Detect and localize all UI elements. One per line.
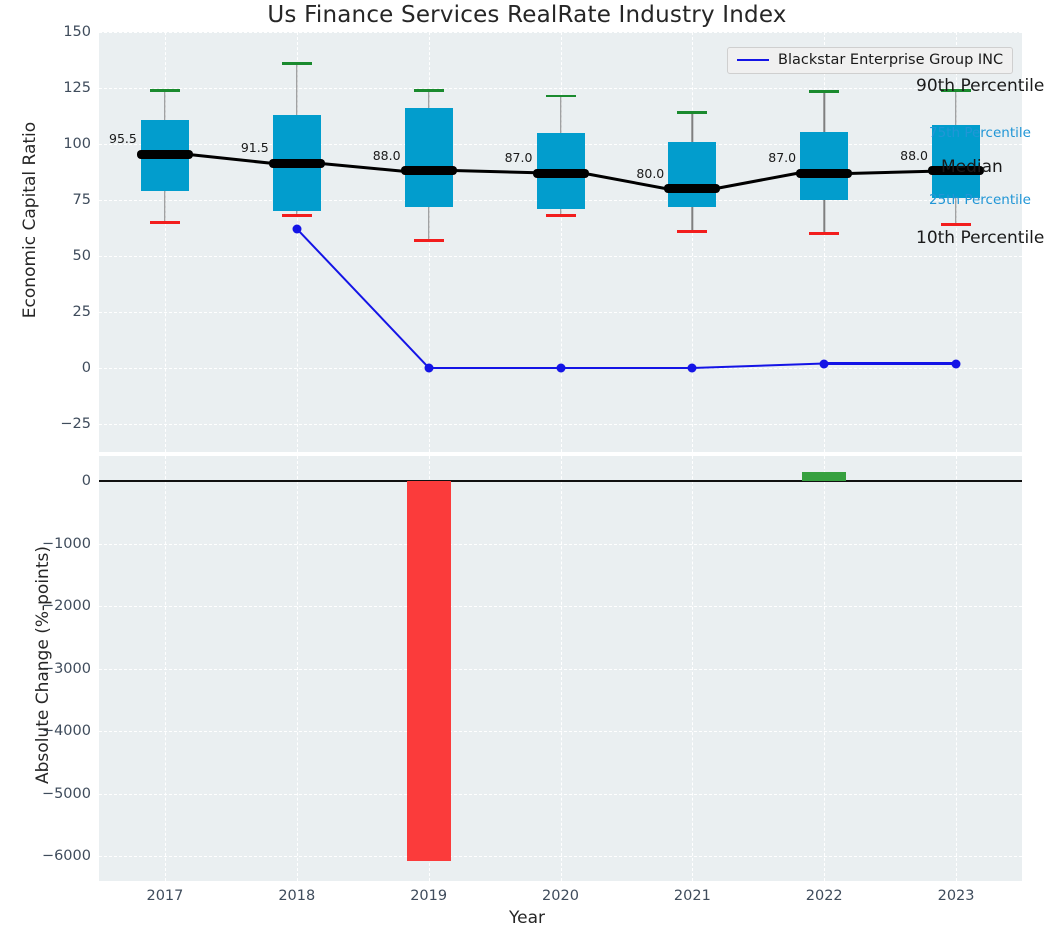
y-tick-label: 125 (63, 80, 91, 96)
gridline-vertical (956, 456, 957, 881)
series-data-point (424, 364, 433, 373)
y-tick-label: 0 (82, 473, 91, 489)
whisker-cap-high (150, 89, 180, 92)
gridline-vertical (165, 456, 166, 881)
whisker-cap-high (677, 111, 707, 114)
median-marker (664, 184, 720, 193)
y-axis-bottom-label: Absolute Change (%-points) (33, 535, 53, 795)
legend[interactable]: Blackstar Enterprise Group INC (727, 47, 1013, 74)
annotation-median: Median (941, 157, 1003, 177)
median-marker (401, 166, 457, 175)
box-iqr (800, 132, 848, 200)
x-tick-label: 2018 (278, 888, 315, 904)
change-bar-positive (802, 472, 846, 481)
x-tick-label: 2022 (806, 888, 843, 904)
median-value-label: 91.5 (241, 140, 269, 155)
series-data-point (820, 359, 829, 368)
y-tick-label: 0 (82, 360, 91, 376)
change-bar-negative (407, 481, 451, 861)
median-value-label: 88.0 (373, 148, 401, 163)
whisker-cap-high (809, 90, 839, 93)
y-tick-label: 100 (63, 136, 91, 152)
y-tick-label: 50 (73, 248, 91, 264)
gridline-vertical (297, 456, 298, 881)
box-iqr (405, 108, 453, 207)
zero-baseline (99, 480, 1022, 482)
whisker-cap-low (414, 239, 444, 242)
gridline-vertical (824, 456, 825, 881)
box-iqr (668, 142, 716, 207)
y-tick-label: 25 (73, 304, 91, 320)
series-data-point (292, 225, 301, 234)
whisker-cap-high (414, 89, 444, 92)
whisker-cap-high (546, 95, 576, 98)
series-line-segment (561, 367, 693, 369)
whisker-cap-low (677, 230, 707, 233)
chart-root: Us Finance Services RealRate Industry In… (0, 0, 1054, 942)
y-tick-label: 150 (63, 24, 91, 40)
annotation-25th-percentile: 25th Percentile (929, 192, 1031, 208)
median-marker (137, 150, 193, 159)
whisker-cap-low (282, 214, 312, 217)
median-marker (796, 169, 852, 178)
median-value-label: 87.0 (505, 150, 533, 165)
gridline-vertical (561, 456, 562, 881)
median-value-label: 87.0 (768, 150, 796, 165)
x-tick-label: 2021 (674, 888, 711, 904)
gridline-vertical (692, 456, 693, 881)
y-axis-top-label: Economic Capital Ratio (20, 120, 40, 320)
x-axis-label: Year (0, 908, 1054, 928)
median-value-label: 95.5 (109, 131, 137, 146)
whisker-cap-high (282, 62, 312, 65)
series-data-point (556, 364, 565, 373)
whisker-cap-low (150, 221, 180, 224)
annotation-90th-percentile: 90th Percentile (916, 76, 1044, 96)
legend-label: Blackstar Enterprise Group INC (778, 52, 1003, 68)
whisker-cap-low (546, 214, 576, 217)
series-data-point (952, 359, 961, 368)
median-marker (269, 159, 325, 168)
bottom-plot-panel (99, 456, 1022, 881)
x-tick-label: 2020 (542, 888, 579, 904)
median-value-label: 80.0 (636, 166, 664, 181)
legend-line-swatch (737, 59, 769, 62)
x-tick-label: 2019 (410, 888, 447, 904)
annotation-10th-percentile: 10th Percentile (916, 228, 1044, 248)
x-tick-label: 2017 (146, 888, 183, 904)
x-tick-label: 2023 (938, 888, 975, 904)
y-tick-label: −6000 (42, 848, 91, 864)
y-axis-top-ticks: 1501251007550250−25 (0, 32, 91, 452)
page-title: Us Finance Services RealRate Industry In… (0, 2, 1054, 28)
median-marker (533, 169, 589, 178)
series-data-point (688, 364, 697, 373)
series-line-segment (429, 367, 561, 369)
whisker-cap-low (941, 223, 971, 226)
series-line-segment (824, 362, 956, 364)
annotation-75th-percentile: 75th Percentile (929, 125, 1031, 141)
y-tick-label: −25 (60, 416, 91, 432)
whisker-cap-low (809, 232, 839, 235)
gridline-vertical (692, 32, 693, 452)
y-tick-label: 75 (73, 192, 91, 208)
median-value-label: 88.0 (900, 148, 928, 163)
